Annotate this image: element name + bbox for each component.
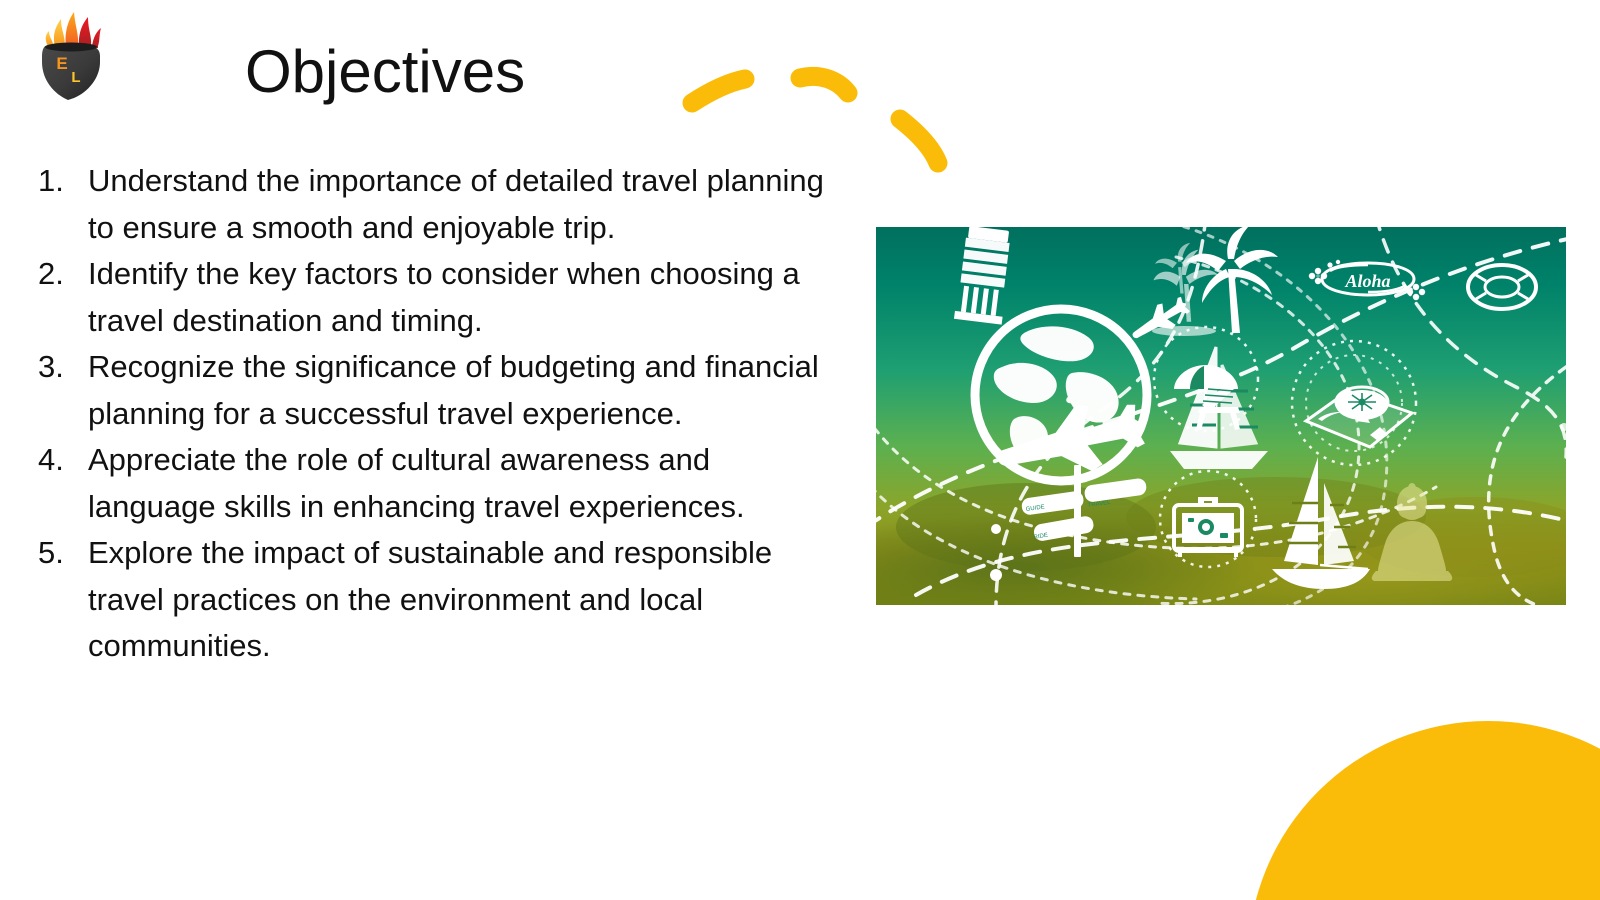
arc-dash-1 xyxy=(692,79,745,103)
palm-tree-icon xyxy=(1186,227,1278,333)
slide-root: E L Objectives 1. Understand the importa… xyxy=(0,0,1600,900)
page-title: Objectives xyxy=(245,42,525,102)
list-item-number: 4. xyxy=(30,437,88,484)
objectives-list: 1. Understand the importance of detailed… xyxy=(30,158,830,670)
list-item: 4. Appreciate the role of cultural aware… xyxy=(30,437,830,530)
list-item-text: Explore the impact of sustainable and re… xyxy=(88,530,830,670)
list-item-number: 2. xyxy=(30,251,88,298)
el-flame-logo: E L xyxy=(22,6,114,102)
logo-letter-e: E xyxy=(56,54,67,73)
arc-dash-3 xyxy=(900,119,938,163)
list-item: 2. Identify the key factors to consider … xyxy=(30,251,830,344)
logo-letter-l: L xyxy=(71,69,80,86)
list-item-number: 5. xyxy=(30,530,88,577)
life-ring-icon xyxy=(1468,265,1536,309)
corner-circle xyxy=(1248,721,1600,900)
list-item-number: 1. xyxy=(30,158,88,205)
list-item-text: Recognize the significance of budgeting … xyxy=(88,344,830,437)
aloha-label: Aloha xyxy=(1344,271,1390,291)
list-item: 3. Recognize the significance of budgeti… xyxy=(30,344,830,437)
list-item-text: Identify the key factors to consider whe… xyxy=(88,251,830,344)
list-item: 1. Understand the importance of detailed… xyxy=(30,158,830,251)
list-item-text: Understand the importance of detailed tr… xyxy=(88,158,830,251)
compass-map-icon xyxy=(1292,341,1416,465)
lei-aloha-icon: Aloha xyxy=(1309,260,1425,300)
list-item-number: 3. xyxy=(30,344,88,391)
leaning-tower-icon xyxy=(954,227,1013,325)
arc-dash-2 xyxy=(800,76,848,93)
list-item-text: Appreciate the role of cultural awarenes… xyxy=(88,437,830,530)
travel-collage-image: GUIDE TRAVEL RIDE xyxy=(876,227,1566,605)
airplane-icon xyxy=(1126,291,1194,348)
list-item: 5. Explore the impact of sustainable and… xyxy=(30,530,830,670)
